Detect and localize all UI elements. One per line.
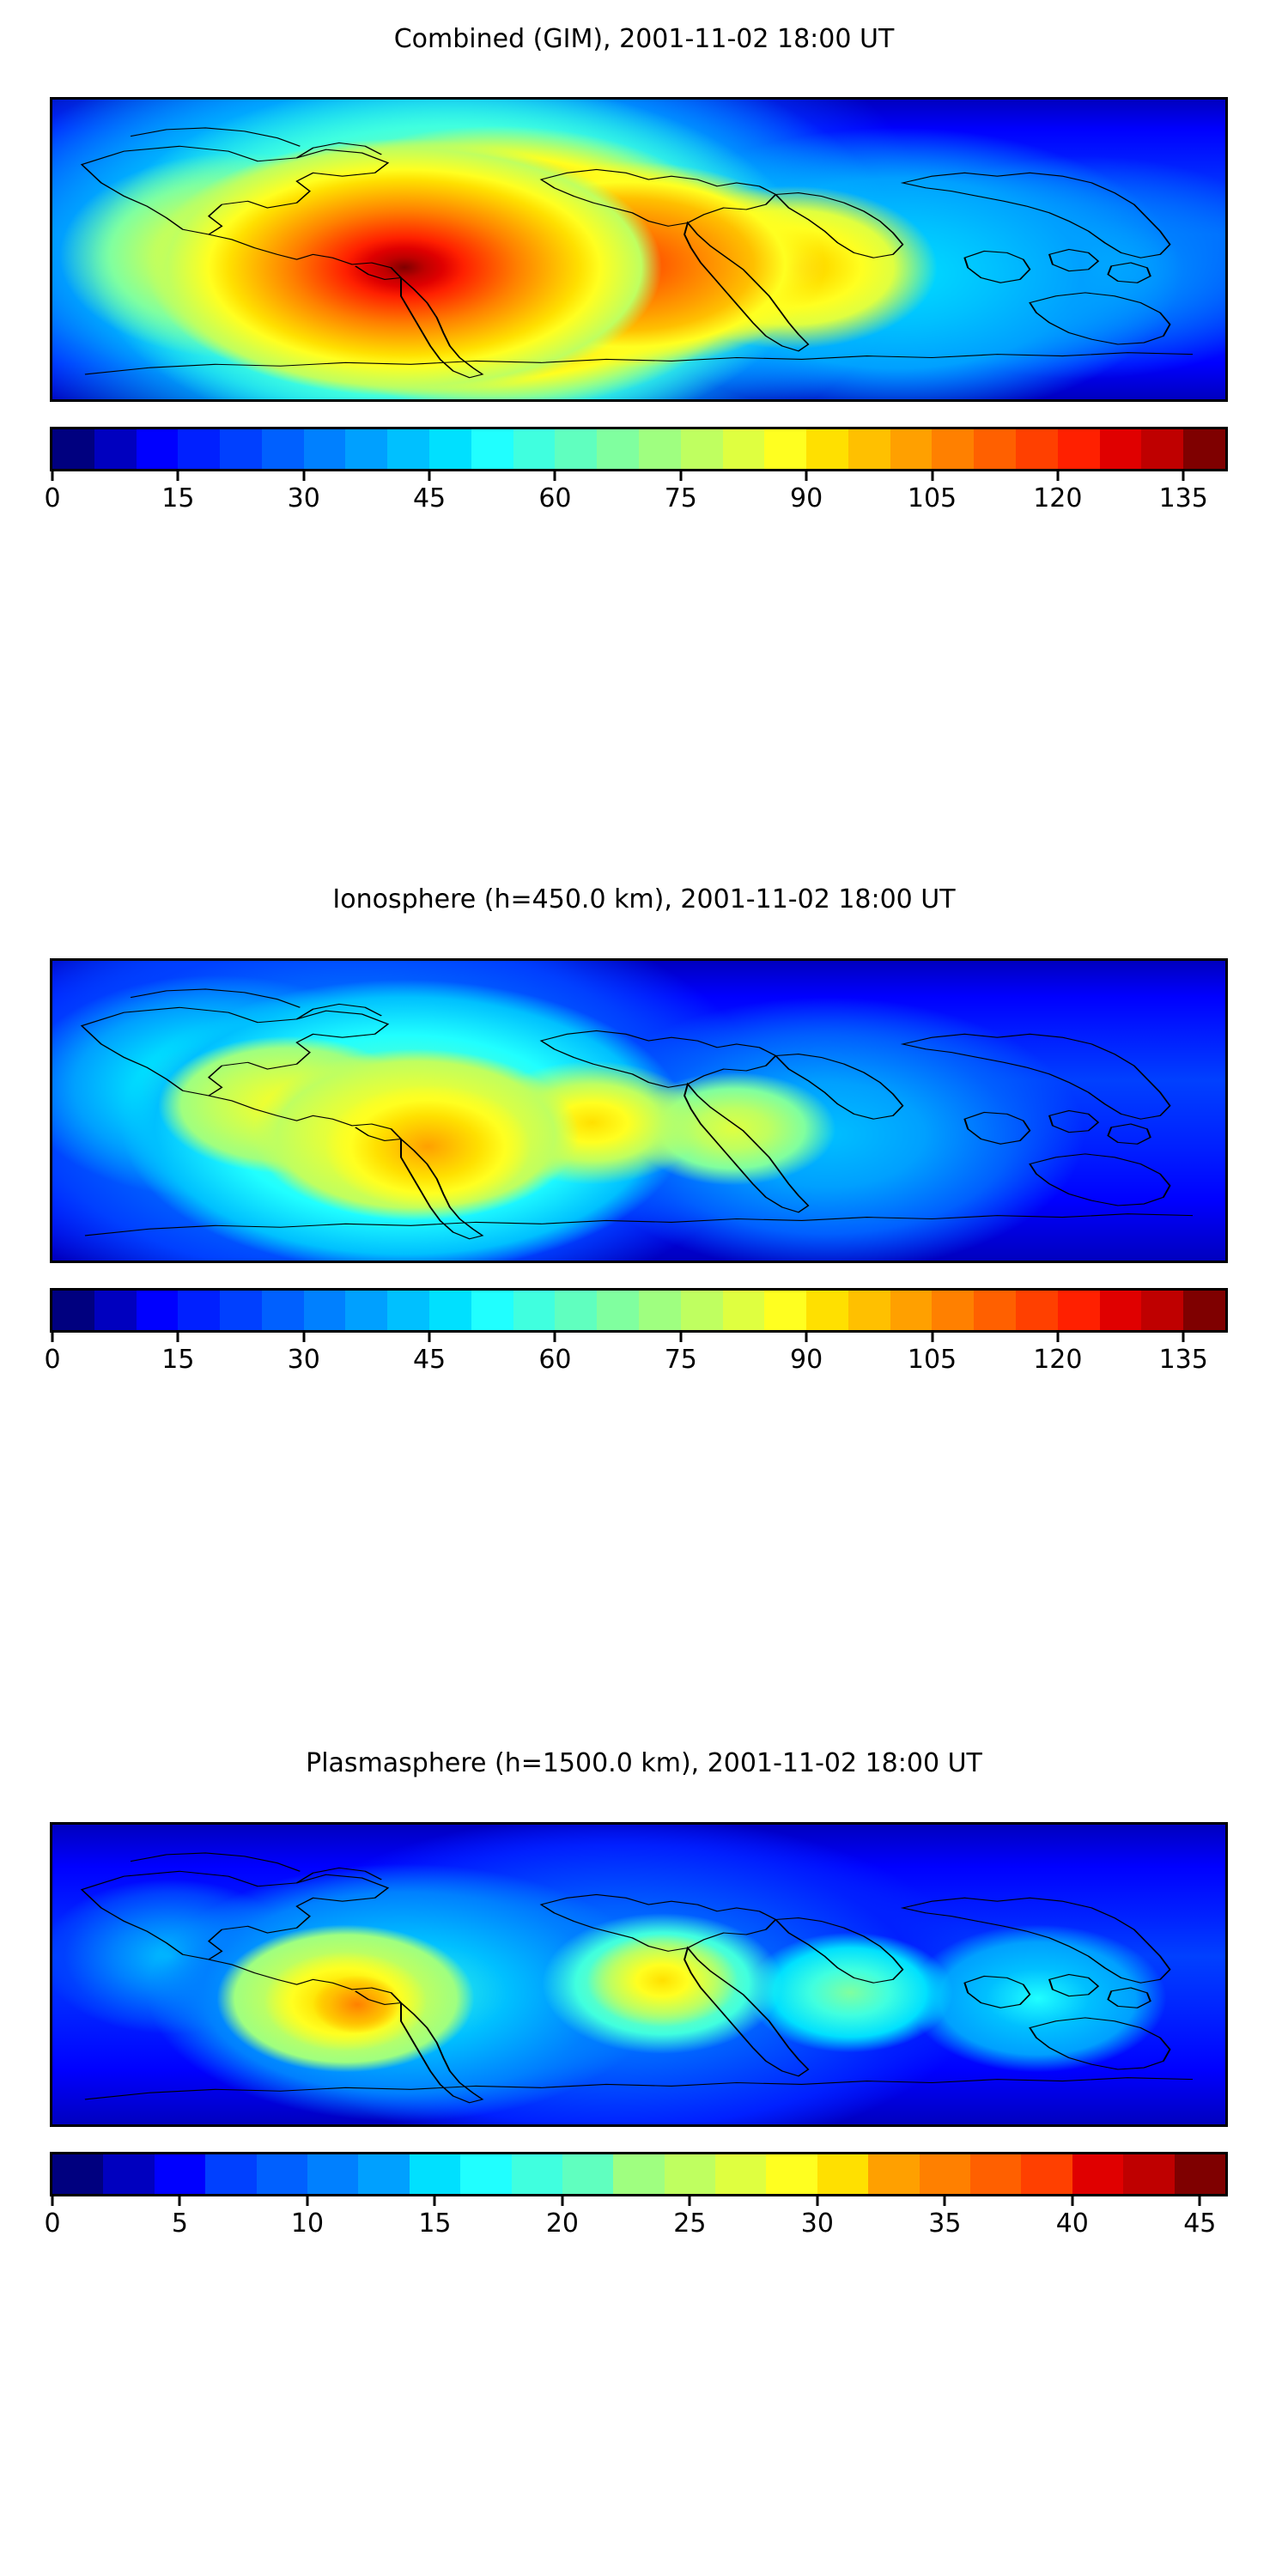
colorbar-tick [52, 1333, 54, 1342]
colorbar-segment [205, 2154, 256, 2194]
colorbar-combined-labels: 0153045607590105120135 [50, 482, 1228, 516]
colorbar-tick-label: 105 [908, 1345, 957, 1375]
colorbar-segment [94, 429, 137, 469]
colorbar-ionosphere-labels: 0153045607590105120135 [50, 1343, 1228, 1377]
colorbar-tick-label: 135 [1159, 483, 1208, 513]
colorbar-segment [597, 1291, 639, 1330]
coastline-overlay-plasmasphere [52, 1825, 1225, 2124]
colorbar-segment [137, 429, 179, 469]
colorbar-segment [1183, 1291, 1225, 1330]
colorbar-plasmasphere-labels: 051015202530354045 [50, 2207, 1228, 2241]
colorbar-segment [52, 2154, 103, 2194]
colorbar-segment [806, 429, 848, 469]
colorbar-segment [723, 429, 765, 469]
colorbar-segment [52, 1291, 94, 1330]
colorbar-segment [304, 429, 346, 469]
colorbar-tick [179, 2196, 181, 2206]
colorbar-combined: 0153045607590105120135 [50, 427, 1228, 516]
colorbar-tick [177, 1333, 179, 1342]
map-plasmasphere [50, 1822, 1228, 2127]
colorbar-tick-label: 60 [538, 1345, 571, 1375]
colorbar-segment [307, 2154, 358, 2194]
colorbar-tick-label: 40 [1056, 2208, 1089, 2239]
colorbar-tick [679, 471, 682, 481]
colorbar-segment [262, 1291, 304, 1330]
colorbar-combined-ticks [50, 471, 1228, 482]
colorbar-segment [555, 429, 597, 469]
colorbar-tick [306, 2196, 308, 2206]
colorbar-segment [429, 429, 471, 469]
colorbar-segment [1183, 429, 1225, 469]
colorbar-segment [1021, 2154, 1072, 2194]
colorbar-tick [679, 1333, 682, 1342]
colorbar-segment [1100, 1291, 1142, 1330]
colorbar-segment [513, 1291, 556, 1330]
colorbar-segment [890, 429, 933, 469]
coastline-overlay-combined [52, 100, 1225, 399]
colorbar-segment [848, 429, 890, 469]
colorbar-segment [817, 2154, 868, 2194]
colorbar-segment [764, 1291, 806, 1330]
colorbar-tick-label: 45 [1183, 2208, 1216, 2239]
colorbar-segment [387, 429, 429, 469]
colorbar-tick-label: 75 [665, 1345, 697, 1375]
colorbar-tick [689, 2196, 691, 2206]
colorbar-tick-label: 15 [161, 1345, 194, 1375]
colorbar-segment [974, 1291, 1016, 1330]
map-combined [50, 97, 1228, 402]
colorbar-tick-label: 30 [801, 2208, 834, 2239]
colorbar-ionosphere: 0153045607590105120135 [50, 1288, 1228, 1377]
colorbar-tick [805, 471, 808, 481]
colorbar-segment [103, 2154, 154, 2194]
colorbar-segment [345, 1291, 387, 1330]
colorbar-tick-label: 90 [790, 483, 823, 513]
panel-title-combined: Combined (GIM), 2001-11-02 18:00 UT [0, 24, 1288, 54]
colorbar-segment [890, 1291, 933, 1330]
colorbar-segment [613, 2154, 664, 2194]
colorbar-tick-label: 90 [790, 1345, 823, 1375]
colorbar-segment [220, 1291, 262, 1330]
colorbar-tick-label: 5 [172, 2208, 188, 2239]
colorbar-segment [868, 2154, 919, 2194]
colorbar-segment [387, 1291, 429, 1330]
colorbar-tick-label: 25 [673, 2208, 706, 2239]
colorbar-segment [665, 2154, 715, 2194]
colorbar-segment [513, 429, 556, 469]
colorbar-tick [434, 2196, 436, 2206]
map-ionosphere [50, 958, 1228, 1263]
colorbar-segment [178, 429, 220, 469]
colorbar-combined-gradient [50, 427, 1228, 471]
colorbar-segment [932, 429, 974, 469]
colorbar-segment [1058, 1291, 1100, 1330]
colorbar-segment [597, 429, 639, 469]
colorbar-segment [94, 1291, 137, 1330]
colorbar-tick [554, 471, 556, 481]
colorbar-tick-label: 75 [665, 483, 697, 513]
colorbar-tick [944, 2196, 946, 2206]
colorbar-segment [766, 2154, 817, 2194]
colorbar-segment [970, 2154, 1021, 2194]
colorbar-segment [1016, 1291, 1058, 1330]
colorbar-segment [429, 1291, 471, 1330]
colorbar-tick-label: 0 [44, 483, 60, 513]
colorbar-segment [512, 2154, 562, 2194]
colorbar-tick [554, 1333, 556, 1342]
colorbar-tick [805, 1333, 808, 1342]
colorbar-segment [1058, 429, 1100, 469]
colorbar-tick-label: 120 [1033, 483, 1082, 513]
colorbar-segment [155, 2154, 205, 2194]
colorbar-tick [1071, 2196, 1073, 2206]
colorbar-segment [471, 429, 513, 469]
colorbar-segment [681, 1291, 723, 1330]
colorbar-tick-label: 0 [44, 2208, 60, 2239]
colorbar-segment [764, 429, 806, 469]
colorbar-segment [848, 1291, 890, 1330]
colorbar-segment [178, 1291, 220, 1330]
colorbar-tick-label: 60 [538, 483, 571, 513]
colorbar-segment [257, 2154, 307, 2194]
colorbar-tick [816, 2196, 818, 2206]
colorbar-tick [931, 471, 933, 481]
colorbar-tick [52, 471, 54, 481]
coastline-overlay-ionosphere [52, 961, 1225, 1261]
colorbar-tick-label: 20 [546, 2208, 579, 2239]
colorbar-segment [1141, 1291, 1183, 1330]
colorbar-segment [723, 1291, 765, 1330]
colorbar-segment [639, 429, 681, 469]
colorbar-tick-label: 105 [908, 483, 957, 513]
colorbar-ionosphere-gradient [50, 1288, 1228, 1333]
colorbar-tick [1056, 471, 1059, 481]
colorbar-segment [460, 2154, 511, 2194]
colorbar-segment [52, 429, 94, 469]
colorbar-segment [137, 1291, 179, 1330]
colorbar-segment [806, 1291, 848, 1330]
colorbar-tick-label: 0 [44, 1345, 60, 1375]
colorbar-tick [1182, 1333, 1185, 1342]
colorbar-segment [220, 429, 262, 469]
colorbar-segment [1016, 429, 1058, 469]
colorbar-segment [974, 429, 1016, 469]
colorbar-tick-label: 45 [413, 483, 446, 513]
colorbar-tick [302, 1333, 305, 1342]
colorbar-segment [932, 1291, 974, 1330]
colorbar-tick-label: 15 [418, 2208, 451, 2239]
colorbar-tick [561, 2196, 563, 2206]
colorbar-tick-label: 35 [928, 2208, 961, 2239]
panel-title-plasmasphere: Plasmasphere (h=1500.0 km), 2001-11-02 1… [0, 1748, 1288, 1778]
colorbar-tick [428, 1333, 431, 1342]
colorbar-tick [1056, 1333, 1059, 1342]
colorbar-plasmasphere: 051015202530354045 [50, 2152, 1228, 2241]
colorbar-tick-label: 15 [161, 483, 194, 513]
colorbar-tick-label: 120 [1033, 1345, 1082, 1375]
panel-title-ionosphere: Ionosphere (h=450.0 km), 2001-11-02 18:0… [0, 884, 1288, 914]
colorbar-tick [302, 471, 305, 481]
colorbar-tick-label: 135 [1159, 1345, 1208, 1375]
colorbar-segment [562, 2154, 613, 2194]
colorbar-segment [1141, 429, 1183, 469]
colorbar-tick-label: 45 [413, 1345, 446, 1375]
colorbar-tick [1199, 2196, 1201, 2206]
colorbar-tick [177, 471, 179, 481]
colorbar-tick-label: 10 [291, 2208, 324, 2239]
colorbar-plasmasphere-ticks [50, 2196, 1228, 2207]
tec-map-figure: Combined (GIM), 2001-11-02 18:00 UT [0, 0, 1288, 2576]
colorbar-segment [715, 2154, 766, 2194]
colorbar-segment [1123, 2154, 1174, 2194]
colorbar-segment [471, 1291, 513, 1330]
colorbar-segment [555, 1291, 597, 1330]
colorbar-tick [52, 2196, 54, 2206]
colorbar-tick [931, 1333, 933, 1342]
colorbar-segment [639, 1291, 681, 1330]
colorbar-segment [681, 429, 723, 469]
colorbar-segment [1175, 2154, 1225, 2194]
colorbar-tick [428, 471, 431, 481]
colorbar-tick-label: 30 [288, 1345, 320, 1375]
colorbar-segment [1072, 2154, 1123, 2194]
colorbar-plasmasphere-gradient [50, 2152, 1228, 2196]
colorbar-ionosphere-ticks [50, 1333, 1228, 1343]
colorbar-tick [1182, 471, 1185, 481]
colorbar-tick-label: 30 [288, 483, 320, 513]
colorbar-segment [262, 429, 304, 469]
colorbar-segment [410, 2154, 460, 2194]
colorbar-segment [345, 429, 387, 469]
colorbar-segment [358, 2154, 409, 2194]
colorbar-segment [1100, 429, 1142, 469]
colorbar-segment [304, 1291, 346, 1330]
colorbar-segment [920, 2154, 970, 2194]
